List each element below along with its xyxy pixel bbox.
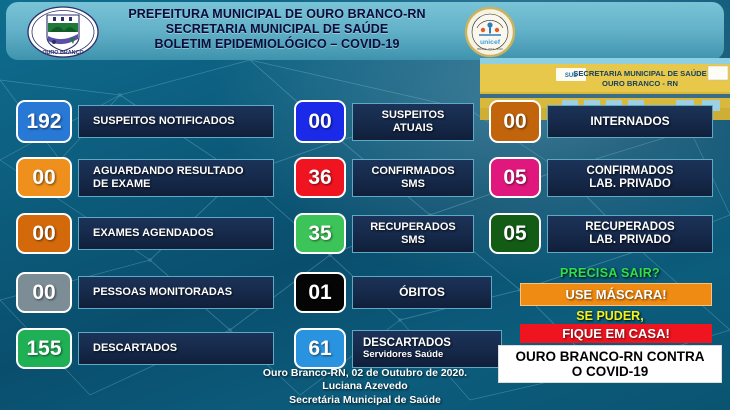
indicator-label: DESCARTADOS: [78, 332, 274, 365]
indicator-label-main: INTERNADOS: [590, 115, 669, 128]
indicator-label-main: SUSPEITOS: [382, 109, 445, 121]
unicef-seal-icon: unicef BRASIL 2013 - 2016: [463, 6, 517, 58]
indicator-card: 00 SUSPEITOS ATUAIS: [294, 100, 474, 143]
prevention-campaign-block: PRECISA SAIR? USE MÁSCARA! SE PUDER, FIQ…: [498, 266, 722, 383]
indicator-label: PESSOAS MONITORADAS: [78, 276, 274, 309]
campaign-use-mask: USE MÁSCARA!: [520, 283, 712, 306]
footer-date: Ouro Branco-RN, 02 de Outubro de 2020.: [0, 367, 730, 380]
indicator-value: 00: [16, 213, 72, 254]
municipal-coat-of-arms-icon: OURO BRANCO: [26, 5, 100, 59]
campaign-if-possible: SE PUDER,: [498, 309, 722, 323]
indicator-label-sub: SMS: [401, 178, 425, 190]
header-banner: OURO BRANCO unicef BRASIL 2013 - 2016 PR…: [6, 2, 724, 60]
bulletin-canvas: OURO BRANCO unicef BRASIL 2013 - 2016 PR…: [0, 0, 730, 410]
indicator-value: 05: [489, 157, 541, 198]
indicator-label-main: EXAMES AGENDADOS: [93, 227, 214, 239]
indicator-label-main: RECUPERADOS: [585, 221, 674, 234]
indicator-card: 61 DESCARTADOS Servidores Saúde: [294, 328, 502, 369]
campaign-slogan-line-1: OURO BRANCO-RN CONTRA: [503, 349, 717, 364]
indicator-card: 01 ÓBITOS: [294, 272, 492, 313]
indicator-label-main: PESSOAS MONITORADAS: [93, 286, 232, 298]
svg-text:BRASIL 2013 - 2016: BRASIL 2013 - 2016: [477, 47, 503, 51]
indicator-label: SUSPEITOS ATUAIS: [352, 103, 474, 141]
building-sign-line-1: SECRETARIA MUNICIPAL DE SAÚDE: [573, 69, 706, 78]
footer-signature: Ouro Branco-RN, 02 de Outubro de 2020. L…: [0, 367, 730, 407]
indicator-label-main: DESCARTADOS: [93, 342, 177, 354]
indicator-label-sub: ATUAIS: [393, 122, 433, 134]
indicator-label-main: CONFIRMADOS: [587, 165, 674, 178]
indicator-value: 00: [16, 272, 72, 313]
indicator-card: 00 AGUARDANDO RESULTADO DE EXAME: [16, 157, 274, 198]
indicator-label-sub: LAB. PRIVADO: [589, 234, 671, 247]
title-line-1: PREFEITURA MUNICIPAL DE OURO BRANCO-RN: [102, 7, 452, 22]
footer-author-role: Secretária Municipal de Saúde: [0, 394, 730, 407]
indicator-value: 00: [489, 100, 541, 143]
indicator-label-sub: DE EXAME: [93, 178, 150, 190]
footer-author-name: Luciana Azevedo: [0, 380, 730, 393]
indicator-label: CONFIRMADOS SMS: [352, 159, 474, 197]
indicator-label: EXAMES AGENDADOS: [78, 217, 274, 250]
indicator-card: 35 RECUPERADOS SMS: [294, 213, 474, 254]
indicator-value: 01: [294, 272, 346, 313]
indicator-label: RECUPERADOS SMS: [352, 215, 474, 253]
indicator-label-sub: LAB. PRIVADO: [589, 178, 671, 191]
indicator-label-sub: Servidores Saúde: [363, 350, 443, 361]
indicator-label: ÓBITOS: [352, 276, 492, 309]
indicator-value: 35: [294, 213, 346, 254]
indicator-value: 192: [16, 100, 72, 143]
page-title: PREFEITURA MUNICIPAL DE OURO BRANCO-RN S…: [102, 7, 452, 51]
indicator-label-main: ÓBITOS: [399, 286, 445, 299]
campaign-stay-home: FIQUE EM CASA!: [520, 324, 712, 343]
title-line-2: SECRETARIA MUNICIPAL DE SAÚDE: [102, 22, 452, 37]
indicator-label: DESCARTADOS Servidores Saúde: [352, 330, 502, 368]
indicator-label: CONFIRMADOS LAB. PRIVADO: [547, 159, 713, 197]
campaign-question: PRECISA SAIR?: [498, 266, 722, 280]
indicator-label-main: RECUPERADOS: [370, 221, 456, 233]
indicator-card: 192 SUSPEITOS NOTIFICADOS: [16, 100, 274, 143]
indicator-card: 00 INTERNADOS: [489, 100, 713, 143]
indicator-label: RECUPERADOS LAB. PRIVADO: [547, 215, 713, 253]
indicator-card: 00 PESSOAS MONITORADAS: [16, 272, 274, 313]
indicator-card: 155 DESCARTADOS: [16, 328, 274, 369]
indicator-value: 36: [294, 157, 346, 198]
indicator-card: 05 RECUPERADOS LAB. PRIVADO: [489, 213, 713, 254]
indicator-label: AGUARDANDO RESULTADO DE EXAME: [78, 159, 274, 197]
indicator-label: SUSPEITOS NOTIFICADOS: [78, 105, 274, 138]
indicator-label-main: CONFIRMADOS: [371, 165, 454, 177]
indicator-value: 00: [294, 100, 346, 143]
indicator-value: 61: [294, 328, 346, 369]
indicator-card: 00 EXAMES AGENDADOS: [16, 213, 274, 254]
indicator-label-main: DESCARTADOS: [363, 337, 451, 350]
unicef-wordmark: unicef: [480, 39, 501, 46]
indicator-label-main: SUSPEITOS NOTIFICADOS: [93, 115, 235, 127]
indicator-value: 155: [16, 328, 72, 369]
sus-badge: SUS: [565, 73, 577, 79]
indicator-label: INTERNADOS: [547, 105, 713, 138]
building-sign-line-2: OURO BRANCO - RN: [602, 79, 678, 88]
indicator-value: 05: [489, 213, 541, 254]
crest-label: OURO BRANCO: [42, 50, 83, 56]
indicator-label-sub: SMS: [401, 234, 425, 246]
title-line-3: BOLETIM EPIDEMIOLÓGICO – COVID-19: [102, 37, 452, 52]
indicator-value: 00: [16, 157, 72, 198]
indicator-label-main: AGUARDANDO RESULTADO: [93, 165, 244, 177]
indicator-card: 05 CONFIRMADOS LAB. PRIVADO: [489, 157, 713, 198]
indicator-card: 36 CONFIRMADOS SMS: [294, 157, 474, 198]
